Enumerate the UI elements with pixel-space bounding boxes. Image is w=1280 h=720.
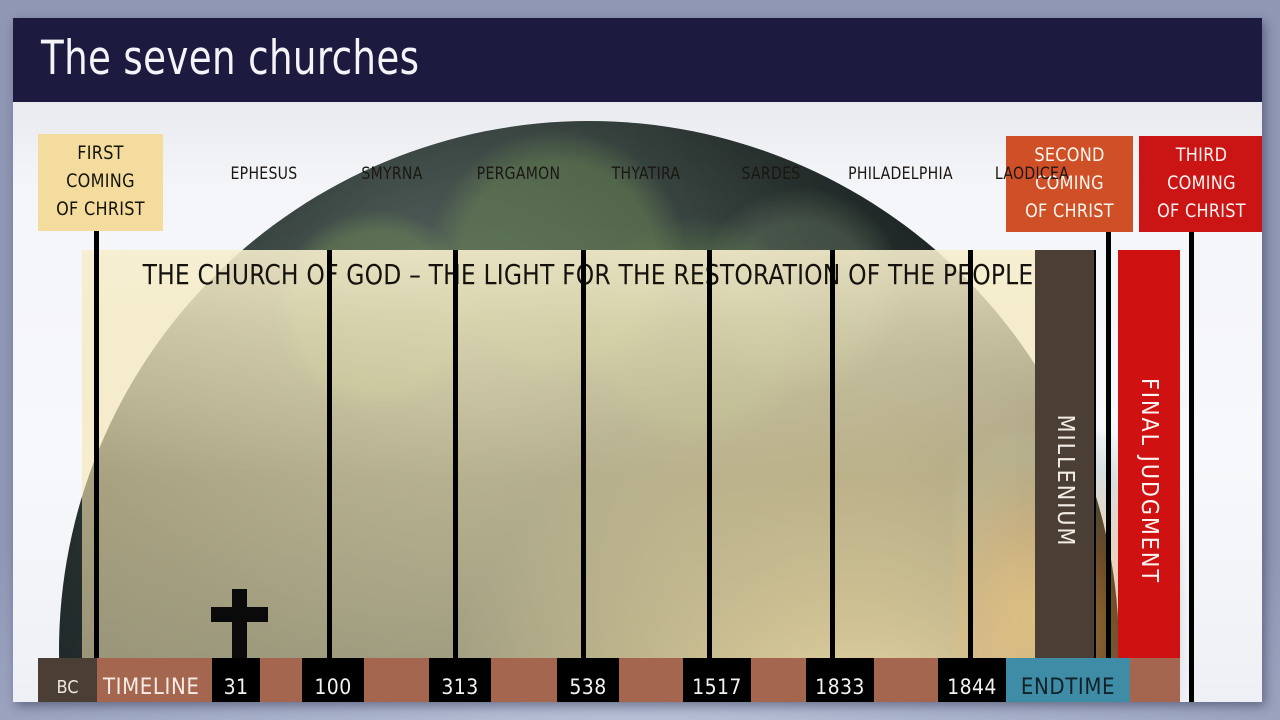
church-label-smyrna: SMYRNA	[336, 164, 448, 184]
third-coming-line-1: THIRD	[1143, 141, 1261, 169]
church-divider	[968, 250, 973, 662]
timeline-bc-block: BC	[38, 658, 97, 702]
church-divider	[707, 250, 712, 662]
timeline-date-31: 31	[212, 658, 260, 702]
third-coming-line-3: OF CHRIST	[1143, 197, 1261, 225]
church-label-laodicea: LAODICEA	[976, 164, 1088, 184]
title-bar: The seven churches	[13, 18, 1262, 102]
third-coming-line-2: COMING	[1143, 169, 1261, 197]
timeline-caption: TIMELINE	[103, 658, 199, 702]
church-label-thyatira: THYATIRA	[590, 164, 702, 184]
panel-heading: THE CHURCH OF GOD – THE LIGHT FOR THE RE…	[117, 258, 1058, 291]
timeline-date-1517: 1517	[683, 658, 751, 702]
slide-body: THE CHURCH OF GOD – THE LIGHT FOR THE RE…	[13, 102, 1262, 702]
timeline-date-538: 538	[557, 658, 619, 702]
church-label-ephesus: EPHESUS	[206, 164, 322, 184]
timeline-endtime-block: ENDTIME	[1006, 658, 1130, 702]
second-coming-line-3: OF CHRIST	[1010, 197, 1129, 225]
slide-canvas: The seven churches THE CHURCH OF GOD – T…	[13, 18, 1262, 702]
second-coming-stem	[1106, 232, 1111, 702]
church-divider	[581, 250, 586, 662]
church-divider	[453, 250, 458, 662]
first-coming-line-1: FIRST	[42, 139, 160, 167]
timeline-date-313: 313	[429, 658, 491, 702]
page-title: The seven churches	[41, 31, 419, 87]
church-label-philadelphia: PHILADELPHIA	[838, 164, 962, 184]
first-coming-of-christ-box: FIRST COMING OF CHRIST	[38, 134, 163, 231]
cross-symbol	[208, 589, 270, 661]
timeline-date-100: 100	[302, 658, 364, 702]
second-coming-of-christ-box: SECOND COMING OF CHRIST	[1006, 136, 1133, 232]
church-label-sardes: SARDES	[716, 164, 826, 184]
church-divider	[830, 250, 835, 662]
church-divider	[327, 250, 332, 662]
timeline-bar: BC TIMELINE 31 100 313 538 1517 1833 184…	[38, 658, 1180, 702]
third-coming-of-christ-box: THIRD COMING OF CHRIST	[1139, 136, 1262, 232]
church-divider	[94, 250, 99, 662]
timeline-date-1844: 1844	[938, 658, 1006, 702]
church-label-pergamon: PERGAMON	[461, 164, 576, 184]
timeline-date-1833: 1833	[806, 658, 874, 702]
first-coming-line-2: COMING	[42, 167, 160, 195]
final-judgment-label: FINAL JUDGMENT	[1136, 378, 1162, 584]
first-coming-line-3: OF CHRIST	[42, 195, 160, 223]
third-coming-stem	[1189, 232, 1194, 702]
final-judgment-bar: FINAL JUDGMENT	[1118, 250, 1180, 702]
